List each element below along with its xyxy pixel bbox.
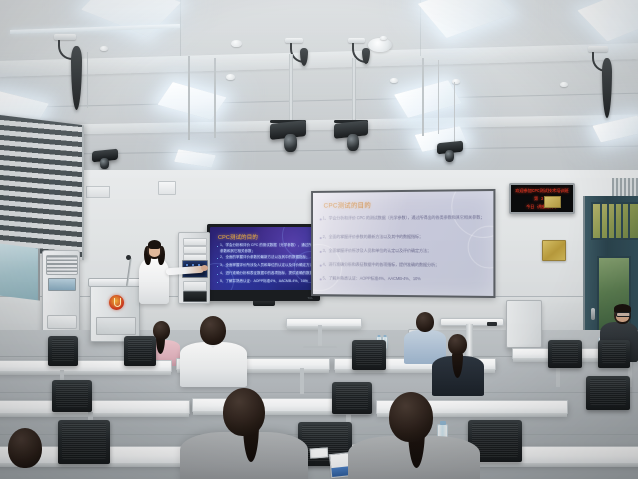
slide-line-1: 1、学会分析和评价 CPC 的测试数据（光学参数），通过所得出的各类参数和其它相…: [323, 215, 485, 222]
lcd-screen-surface: CPC测试的目的 1、学会分析和评价 CPC 的测试数据（光学参数），通过所得出…: [210, 227, 317, 290]
chair-r2-2[interactable]: [52, 380, 92, 412]
chair-r1-4[interactable]: [548, 340, 582, 368]
side-control-desk[interactable]: [506, 300, 542, 348]
paper-note[interactable]: [310, 447, 329, 458]
wall-vent-plate: [86, 186, 110, 198]
wall-plaque: [542, 240, 566, 261]
chair-r1-3[interactable]: [352, 340, 386, 370]
slide-line-1b: [328, 223, 329, 228]
lcd-slide-title: CPC测试的目的: [218, 233, 258, 241]
slide-line-3: 3、全面掌握评价所涉及人员和单位的认定以及评价确定方法；: [323, 248, 431, 254]
table-row1-leg-b: [300, 368, 304, 394]
ceiling-sensor-4: [390, 78, 398, 83]
podium-top-surface: [88, 278, 144, 287]
red-led-marquee-board: 欢迎参加CPC测试技术培训班 第 3 期 今日 讲座进行中: [509, 183, 575, 214]
ac-control-panel[interactable]: [48, 278, 76, 291]
ceiling-sensor-2: [100, 46, 108, 51]
desk-height-controller[interactable]: [487, 322, 497, 326]
door-handle-icon[interactable]: [591, 308, 595, 320]
ceiling-sensor-6: [560, 82, 568, 87]
slide-title: CPC测试的目的: [324, 199, 371, 209]
lcd-stand: [253, 301, 275, 306]
smoke-detector-icon: [368, 38, 392, 52]
rack-slot-2: [183, 246, 207, 254]
table-row0-center: [286, 318, 362, 327]
lcd-line-1: 1、学会分析和评价 CPC 的测试数据（光学参数），通过所得出的各类: [220, 243, 317, 248]
presenter-hand: [201, 265, 208, 271]
lecture-podium[interactable]: [90, 282, 140, 342]
ceiling-conduit-2: [214, 58, 216, 138]
ac-bottom-vent: [47, 315, 77, 329]
ceiling-sensor-1: [231, 40, 242, 47]
table-row2-left: [0, 400, 190, 414]
ceiling-conduit-5: [454, 82, 455, 142]
door-transom-window: [591, 202, 638, 240]
slide-line-2: 2、全面的掌握评价参数的最新方法以及其中的数据指标；: [323, 234, 423, 240]
chair-r2-1[interactable]: [332, 382, 372, 414]
desk-lift-column: [466, 324, 473, 360]
ceiling-seam-v1: [180, 0, 181, 56]
led-line-2: 第 3 期: [511, 196, 573, 202]
university-emblem-icon: [109, 295, 124, 310]
chair-r1-1[interactable]: [48, 336, 78, 366]
podium-lower-panel: [96, 317, 136, 335]
rack-slot-1: [183, 238, 207, 246]
presenter-head: [147, 241, 162, 259]
chair-r2-3[interactable]: [586, 376, 630, 410]
led-line-3: 今日 讲座进行中: [511, 204, 573, 210]
audience-woman-gray-left-head: [223, 388, 265, 436]
ac-grille-icon: [46, 255, 78, 275]
audience-man-glasses-icon: [616, 312, 631, 317]
audience-woman-gray-right-head: [389, 392, 433, 442]
slide-line-5: 5、了解并熟悉认证：AOPP标准4%、AACMB-4%、10%: [323, 275, 421, 282]
ceiling-sensor-7: [380, 36, 387, 40]
presenter-body: [139, 258, 169, 304]
lcd-line-4: 3、全面掌握评价所涉及人员和单位的认定以及评价确定方法；: [220, 263, 316, 268]
zebra-roller-blind-left[interactable]: [0, 115, 84, 261]
table-row0-leg: [318, 325, 322, 347]
audience-man-blue-shirt-head: [416, 312, 434, 332]
led-line-1: 欢迎参加CPC测试技术培训班: [511, 188, 573, 194]
wall-plaque-small: [544, 196, 561, 208]
lcd-line-2: 参数和其它相关参数；: [220, 249, 255, 254]
wall-lcd-display[interactable]: CPC测试的目的 1、学会分析和评价 CPC 的测试数据（光学参数），通过所得出…: [207, 224, 320, 301]
lcd-line-6: 5、了解并熟悉认证：AOPP标准4%、AACMB-4%、10%: [220, 279, 308, 284]
audience-man-white-shirt-head: [200, 316, 226, 345]
lcd-line-5: 4、进行准确分析和表征数据中的各项指标，提供准确的数据分析；: [220, 271, 317, 276]
rack-slot-4: [183, 281, 207, 291]
classroom-photo-scene: CPC测试的目的 1、学会分析和评价 CPC 的测试数据（光学参数），通过所得出…: [0, 0, 638, 479]
ceiling-conduit-6: [87, 52, 88, 108]
table-row0-foot: [302, 346, 337, 348]
chair-front-1[interactable]: [58, 420, 110, 464]
rack-slot-5: [183, 291, 207, 302]
slide-line-4: 4、进行准确分析和表征数据中的各项指标，提供准确的数据分析；: [323, 262, 440, 268]
audience-partial-foreground-left-head: [8, 428, 42, 468]
air-conditioner-unit[interactable]: [42, 250, 80, 338]
ceiling-conduit-1: [188, 56, 190, 140]
lcd-line-3: 2、全面的掌握评价参数的最新方法以及其中的数据指标；: [220, 255, 309, 260]
audience-woman-dark-head: [448, 334, 467, 355]
ceiling-conduit-3: [422, 58, 424, 136]
main-projection-screen: CPC测试的目的 1、学会分析和评价 CPC 的测试数据（光学参数），通过所得出…: [311, 189, 495, 298]
lcd-brand-label: TCL: [307, 296, 313, 300]
window-left: [0, 243, 40, 300]
ceiling-sensor-3: [226, 74, 235, 80]
chair-r1-5[interactable]: [598, 340, 630, 368]
audience-man-white-shirt-body: [180, 342, 247, 387]
chair-r1-2[interactable]: [124, 336, 156, 366]
wall-junction-box: [158, 181, 176, 195]
ceiling-conduit-4: [438, 60, 439, 134]
podium-microphone-head-icon: [126, 255, 131, 260]
